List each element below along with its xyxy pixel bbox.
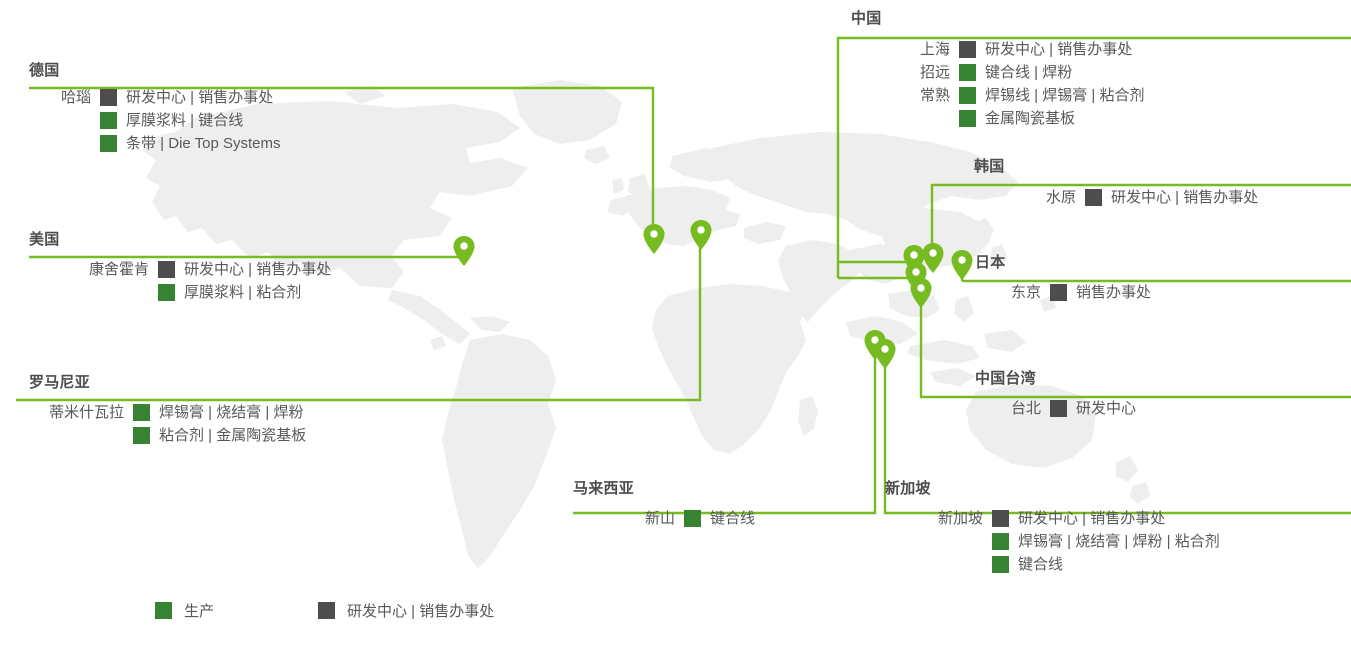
city-label: 康舍霍肯 — [29, 258, 158, 281]
location-row: 招远 键合线 | 焊粉 — [896, 61, 1331, 84]
facility-text: 焊锡线 | 焊锡膏 | 粘合剂 — [985, 84, 1144, 107]
production-swatch-icon — [155, 602, 172, 619]
facility-text: 键合线 | 焊粉 — [985, 61, 1072, 84]
legend-item-office: 研发中心 | 销售办事处 — [318, 600, 494, 621]
city-label: 东京 — [987, 281, 1050, 304]
country-title-korea: 韩国 — [974, 158, 1334, 176]
facility-text: 厚膜浆料 | 粘合剂 — [184, 281, 301, 304]
legend-item-production: 生产 — [155, 600, 214, 621]
office-swatch-icon — [318, 602, 335, 619]
info-block-taiwan: 中国台湾 台北 研发中心 — [975, 370, 1335, 420]
facility-text: 焊锡膏 | 烧结膏 | 焊粉 — [159, 401, 303, 424]
legend-label-office: 研发中心 | 销售办事处 — [347, 600, 494, 621]
city-label: 招远 — [896, 61, 959, 84]
facility-text: 研发中心 — [1076, 397, 1136, 420]
location-row: 条带 | Die Top Systems — [29, 132, 449, 155]
location-row: 金属陶瓷基板 — [896, 107, 1331, 130]
location-row: 蒂米什瓦拉 焊锡膏 | 烧结膏 | 焊粉 — [16, 401, 449, 424]
city-label: 新山 — [621, 507, 684, 530]
facility-text: 研发中心 | 销售办事处 — [1018, 507, 1165, 530]
production-swatch-icon — [100, 135, 117, 152]
location-row: 厚膜浆料 | 粘合剂 — [29, 281, 449, 304]
map-pin-usa[interactable] — [453, 236, 475, 266]
country-title-usa: 美国 — [29, 231, 449, 249]
facility-text: 粘合剂 | 金属陶瓷基板 — [159, 424, 306, 447]
city-label: 蒂米什瓦拉 — [16, 401, 133, 424]
production-swatch-icon — [992, 556, 1009, 573]
facility-text: 条带 | Die Top Systems — [126, 132, 281, 155]
facility-text: 研发中心 | 销售办事处 — [184, 258, 331, 281]
production-swatch-icon — [684, 510, 701, 527]
facility-text: 键合线 — [710, 507, 755, 530]
location-row: 粘合剂 | 金属陶瓷基板 — [16, 424, 449, 447]
info-block-romania: 罗马尼亚 蒂米什瓦拉 焊锡膏 | 烧结膏 | 焊粉 粘合剂 | 金属陶瓷基板 — [29, 374, 449, 447]
location-row: 新加坡 研发中心 | 销售办事处 — [913, 507, 1335, 530]
location-row: 东京 销售办事处 — [987, 281, 1335, 304]
country-title-singapore: 新加坡 — [885, 480, 1335, 498]
map-pin-germany[interactable] — [643, 224, 665, 254]
location-row: 上海 研发中心 | 销售办事处 — [896, 38, 1331, 61]
facility-text: 焊锡膏 | 烧结膏 | 焊粉 | 粘合剂 — [1018, 530, 1220, 553]
location-row: 水原 研发中心 | 销售办事处 — [1022, 186, 1334, 209]
production-swatch-icon — [133, 404, 150, 421]
facility-text: 研发中心 | 销售办事处 — [1111, 186, 1258, 209]
city-label: 台北 — [987, 397, 1050, 420]
location-row: 新山 键合线 — [621, 507, 873, 530]
info-block-usa: 美国 康舍霍肯 研发中心 | 销售办事处 厚膜浆料 | 粘合剂 — [29, 231, 449, 304]
map-pin-romania[interactable] — [690, 220, 712, 250]
production-swatch-icon — [959, 110, 976, 127]
country-title-germany: 德国 — [29, 62, 449, 80]
city-label: 哈瑙 — [29, 86, 100, 109]
info-block-malaysia: 马来西亚 新山 键合线 — [573, 480, 873, 530]
info-block-japan: 日本 东京 销售办事处 — [975, 254, 1335, 304]
production-swatch-icon — [158, 284, 175, 301]
facility-text: 金属陶瓷基板 — [985, 107, 1075, 130]
map-legend: 生产 研发中心 | 销售办事处 — [155, 600, 494, 621]
location-row: 康舍霍肯 研发中心 | 销售办事处 — [29, 258, 449, 281]
facility-text: 厚膜浆料 | 键合线 — [126, 109, 243, 132]
country-title-romania: 罗马尼亚 — [29, 374, 449, 392]
production-swatch-icon — [133, 427, 150, 444]
office-swatch-icon — [100, 89, 117, 106]
location-row: 台北 研发中心 — [987, 397, 1335, 420]
city-label: 水原 — [1022, 186, 1085, 209]
country-title-taiwan: 中国台湾 — [975, 370, 1335, 388]
office-swatch-icon — [1085, 189, 1102, 206]
info-block-singapore: 新加坡 新加坡 研发中心 | 销售办事处 焊锡膏 | 烧结膏 | 焊粉 | 粘合… — [885, 480, 1335, 576]
country-title-china: 中国 — [851, 10, 1331, 28]
info-block-germany: 德国 哈瑙 研发中心 | 销售办事处 厚膜浆料 | 键合线 条带 | Die T… — [29, 62, 449, 155]
map-pin-taiwan[interactable] — [910, 278, 932, 308]
office-swatch-icon — [1050, 400, 1067, 417]
office-swatch-icon — [1050, 284, 1067, 301]
office-swatch-icon — [992, 510, 1009, 527]
office-swatch-icon — [158, 261, 175, 278]
facility-text: 研发中心 | 销售办事处 — [126, 86, 273, 109]
location-row: 焊锡膏 | 烧结膏 | 焊粉 | 粘合剂 — [913, 530, 1335, 553]
production-swatch-icon — [992, 533, 1009, 550]
production-swatch-icon — [100, 112, 117, 129]
facility-text: 销售办事处 — [1076, 281, 1151, 304]
location-row: 哈瑙 研发中心 | 销售办事处 — [29, 86, 449, 109]
info-block-korea: 韩国 水原 研发中心 | 销售办事处 — [974, 158, 1334, 209]
country-title-malaysia: 马来西亚 — [573, 480, 873, 498]
facility-text: 键合线 — [1018, 553, 1063, 576]
legend-label-production: 生产 — [184, 600, 214, 621]
location-row: 厚膜浆料 | 键合线 — [29, 109, 449, 132]
office-swatch-icon — [959, 41, 976, 58]
location-row: 键合线 — [913, 553, 1335, 576]
country-title-japan: 日本 — [975, 254, 1335, 272]
map-pin-japan[interactable] — [951, 250, 973, 280]
map-pin-singapore[interactable] — [874, 339, 896, 369]
info-block-china: 中国 上海 研发中心 | 销售办事处 招远 键合线 | 焊粉 常熟 焊锡线 | … — [851, 10, 1331, 130]
location-row: 常熟 焊锡线 | 焊锡膏 | 粘合剂 — [896, 84, 1331, 107]
production-swatch-icon — [959, 64, 976, 81]
city-label: 新加坡 — [913, 507, 992, 530]
world-presence-map: 德国 哈瑙 研发中心 | 销售办事处 厚膜浆料 | 键合线 条带 | Die T… — [0, 0, 1351, 648]
production-swatch-icon — [959, 87, 976, 104]
city-label: 常熟 — [896, 84, 959, 107]
facility-text: 研发中心 | 销售办事处 — [985, 38, 1132, 61]
city-label: 上海 — [896, 38, 959, 61]
